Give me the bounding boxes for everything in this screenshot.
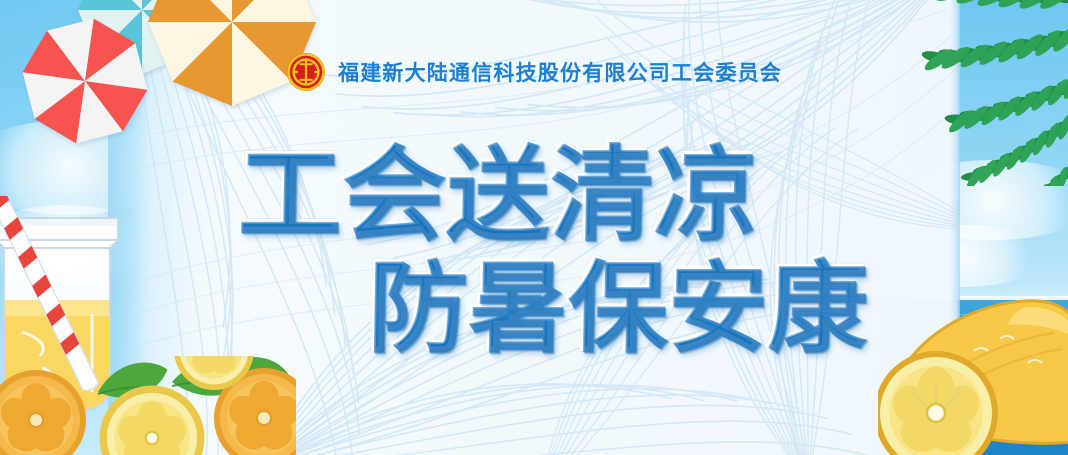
title-char: 暑 <box>465 244 567 369</box>
title-line-1: 工 会 送 清 凉 <box>0 128 1068 258</box>
main-title: 工 会 送 清 凉 防 暑 保 安 康 <box>0 128 1068 369</box>
title-char: 保 <box>565 244 667 369</box>
title-line-2: 防 暑 保 安 康 <box>0 244 1068 369</box>
title-char: 会 <box>339 128 445 258</box>
union-emblem-icon <box>286 52 326 92</box>
citrus-slices <box>0 356 296 455</box>
summer-relief-banner: 福建新大陆通信科技股份有限公司工会委员会 工 会 送 清 凉 防 暑 保 安 康 <box>0 0 1068 455</box>
title-char: 防 <box>365 244 467 369</box>
title-char: 安 <box>665 244 767 369</box>
title-char: 凉 <box>651 128 757 258</box>
title-char: 康 <box>765 244 867 369</box>
title-char: 送 <box>443 128 549 258</box>
title-char: 清 <box>547 128 653 258</box>
banner-header: 福建新大陆通信科技股份有限公司工会委员会 <box>0 52 1068 92</box>
organization-name: 福建新大陆通信科技股份有限公司工会委员会 <box>338 57 782 87</box>
title-char: 工 <box>235 128 341 258</box>
